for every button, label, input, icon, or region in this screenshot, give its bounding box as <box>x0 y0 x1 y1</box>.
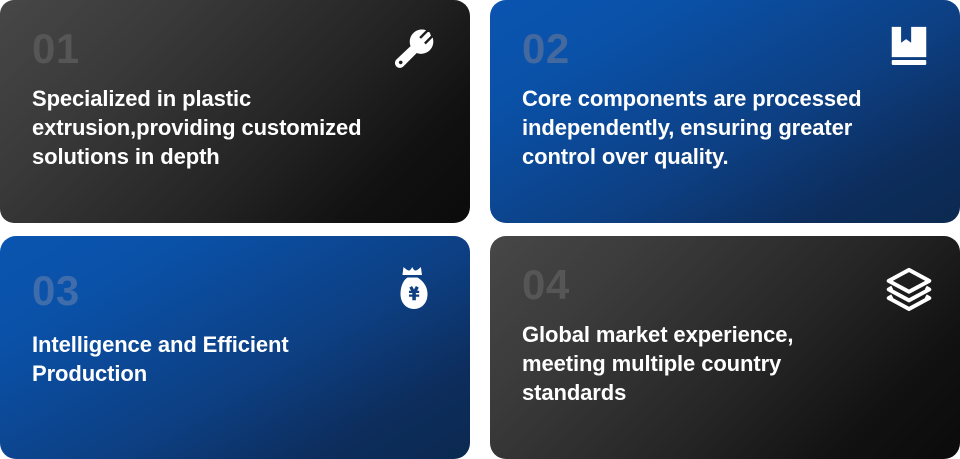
card-number-03: 03 <box>32 270 446 312</box>
bookmark-book-icon <box>886 24 932 70</box>
feature-card-03[interactable]: 03 Intelligence and Efficient Production <box>0 236 470 459</box>
card-heading-04: Global market experience, meeting multip… <box>522 320 936 407</box>
feature-card-04[interactable]: 04 Global market experience, meeting mul… <box>490 236 960 459</box>
card-heading-03: Intelligence and Efficient Production <box>32 330 446 388</box>
card-number-02: 02 <box>522 28 936 70</box>
feature-card-grid: 01 Specialized in plastic extrusion,prov… <box>0 0 960 459</box>
layers-stack-icon <box>884 266 934 316</box>
feature-card-02[interactable]: 02 Core components are processed indepen… <box>490 0 960 223</box>
feature-card-01[interactable]: 01 Specialized in plastic extrusion,prov… <box>0 0 470 223</box>
card-number-01: 01 <box>32 28 446 70</box>
card-heading-01: Specialized in plastic extrusion,providi… <box>32 84 446 171</box>
money-bag-yen-icon <box>390 264 438 312</box>
card-heading-02: Core components are processed independen… <box>522 84 936 171</box>
wrench-icon <box>390 27 436 73</box>
card-number-04: 04 <box>522 264 936 306</box>
